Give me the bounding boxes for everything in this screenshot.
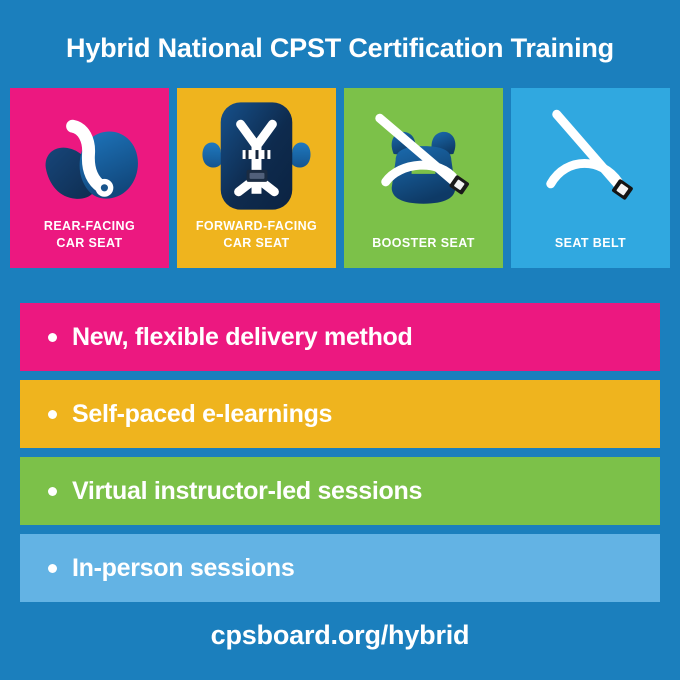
- bullet-dot-icon: [48, 333, 57, 342]
- page-title: Hybrid National CPST Certification Train…: [0, 30, 680, 66]
- bullet-bar[interactable]: Virtual instructor-led sessions: [20, 457, 660, 525]
- rear-facing-car-seat-icon: [10, 96, 169, 216]
- bullet-bar-list: New, flexible delivery method Self-paced…: [20, 303, 660, 611]
- bullet-bar[interactable]: New, flexible delivery method: [20, 303, 660, 371]
- category-card-row: REAR-FACING CAR SEAT: [10, 88, 670, 268]
- card-booster-seat[interactable]: BOOSTER SEAT: [344, 88, 503, 268]
- forward-facing-car-seat-icon: [177, 96, 336, 216]
- poster-root: Hybrid National CPST Certification Train…: [0, 0, 680, 680]
- footer-url[interactable]: cpsboard.org/hybrid: [0, 620, 680, 651]
- bullet-dot-icon: [48, 487, 57, 496]
- booster-seat-icon: [344, 96, 503, 216]
- card-label: REAR-FACING CAR SEAT: [10, 218, 169, 252]
- bullet-dot-icon: [48, 410, 57, 419]
- bullet-text: In-person sessions: [72, 554, 294, 583]
- card-label: FORWARD-FACING CAR SEAT: [177, 218, 336, 252]
- bullet-text: Virtual instructor-led sessions: [72, 477, 422, 506]
- bullet-text: Self-paced e-learnings: [72, 400, 332, 429]
- card-label: SEAT BELT: [511, 235, 670, 252]
- seat-belt-icon: [511, 96, 670, 216]
- card-label: BOOSTER SEAT: [344, 235, 503, 252]
- bullet-bar[interactable]: Self-paced e-learnings: [20, 380, 660, 448]
- bullet-bar[interactable]: In-person sessions: [20, 534, 660, 602]
- bullet-text: New, flexible delivery method: [72, 323, 412, 352]
- bullet-dot-icon: [48, 564, 57, 573]
- card-rear-facing-car-seat[interactable]: REAR-FACING CAR SEAT: [10, 88, 169, 268]
- card-seat-belt[interactable]: SEAT BELT: [511, 88, 670, 268]
- card-forward-facing-car-seat[interactable]: FORWARD-FACING CAR SEAT: [177, 88, 336, 268]
